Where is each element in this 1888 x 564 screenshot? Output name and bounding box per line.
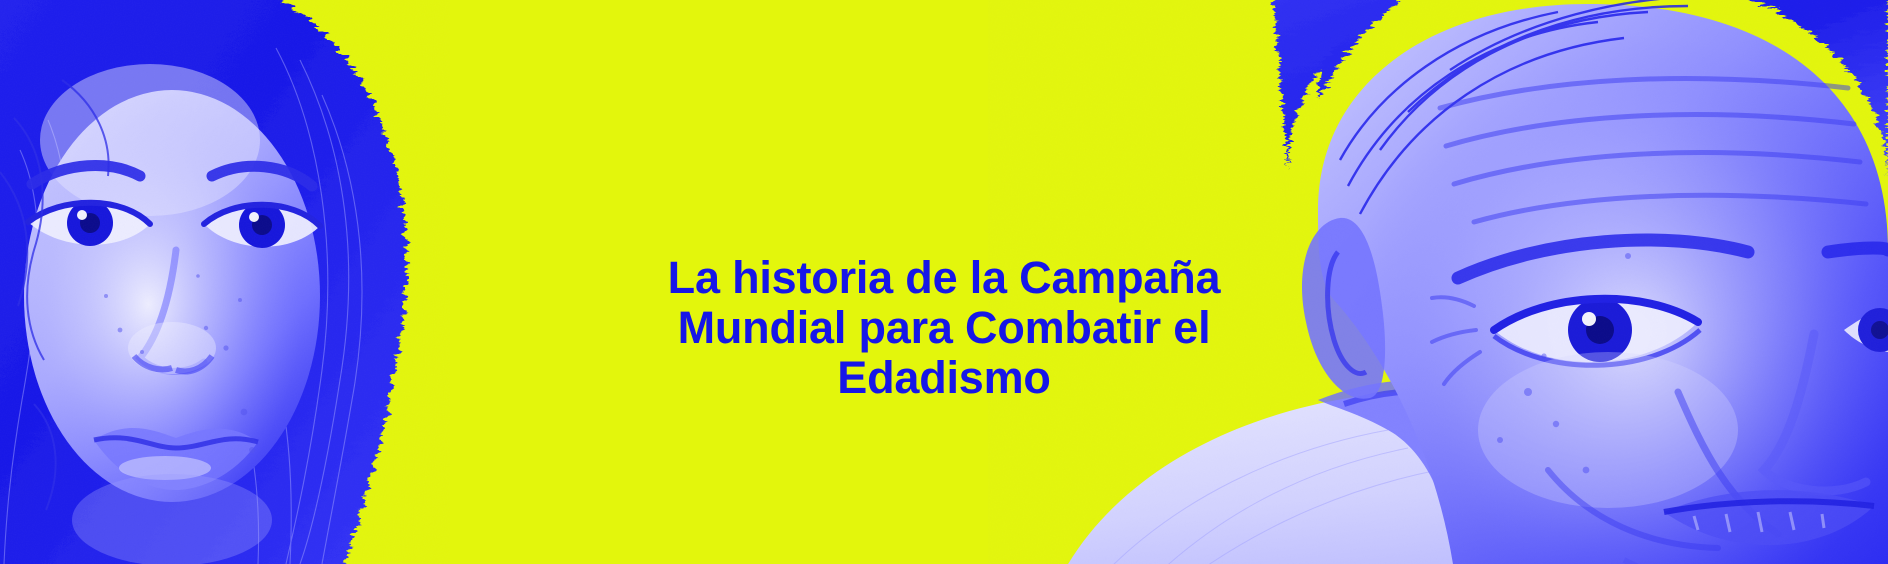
headline-line-2: Mundial para Combatir el xyxy=(624,303,1264,353)
headline-line-3: Edadismo xyxy=(624,353,1264,403)
portrait-left-young-woman xyxy=(0,0,450,564)
headline-line-1: La historia de la Campaña xyxy=(624,253,1264,303)
campaign-hero-banner: La historia de la Campaña Mundial para C… xyxy=(0,0,1888,564)
page-title: La historia de la Campaña Mundial para C… xyxy=(624,253,1264,403)
